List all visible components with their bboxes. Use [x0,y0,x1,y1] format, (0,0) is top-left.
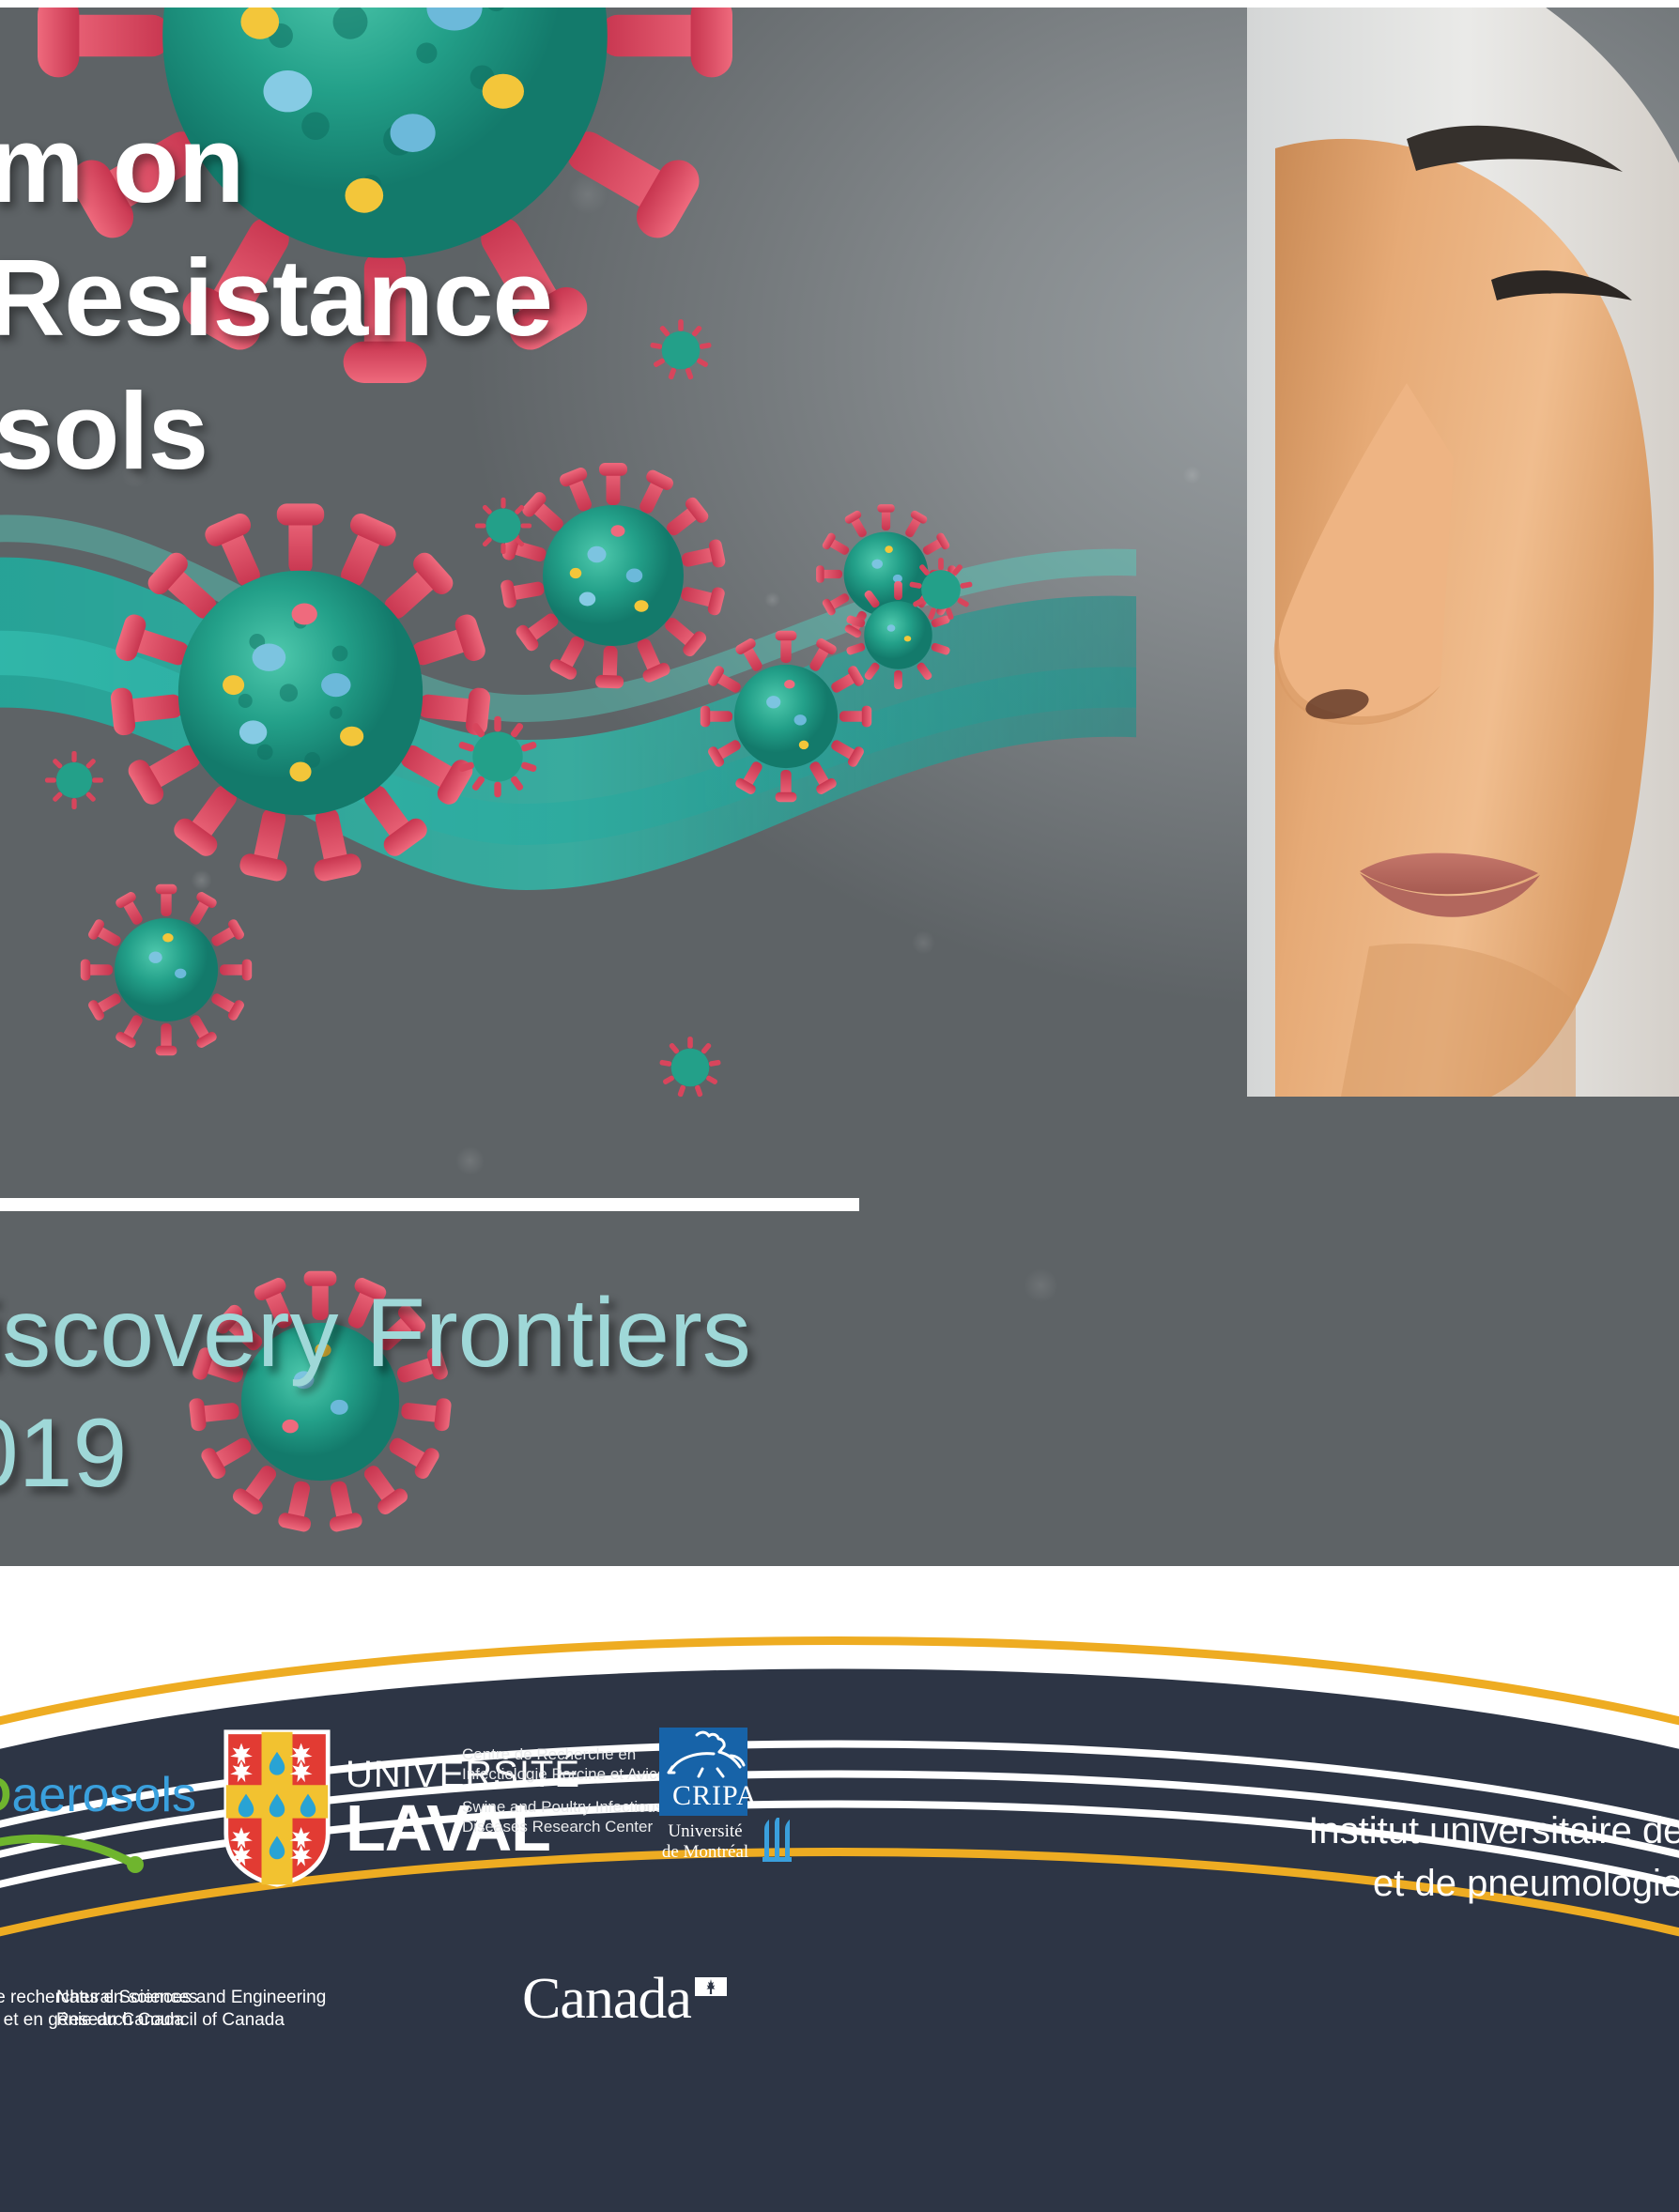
title-divider-rule [0,1198,859,1211]
canada-wordmark: Canada [522,1970,691,2028]
logo-iucpq: N Institut universitaire de cardiologie … [1087,1709,1679,1907]
poster-footer: BIOaerosols [0,1502,1679,2212]
subtitle-line-2: 2019 [0,1393,1131,1513]
bioaerosols-swoosh-icon [0,1821,207,1887]
sponsor-logo-row: BIOaerosols [0,1720,1679,1964]
logo-cripa: CRIPA Université de Montréal [648,1728,813,1863]
cripa-en-line-1: Swine and Poultry Infectious [462,1797,678,1817]
laval-crest-icon [222,1728,332,1889]
cripa-badge-square: CRIPA [659,1728,747,1816]
iucpq-name-line-2: et de pneumologie de Québec [1087,1860,1679,1907]
udem-emblem-icon [759,1818,796,1868]
canada-flag-icon [695,1977,727,1996]
iucpq-name-line-1: Institut universitaire de cardiologie [1087,1807,1679,1854]
bioaerosols-aerosols-text: aerosols [11,1768,196,1822]
poster-root: osium on otic Resistance aerosols Discov… [0,0,1679,2212]
nserc-english-name: Natural Sciences and Engineering Researc… [56,1987,326,2032]
cripa-en-line-2: Diseases Research Center [462,1817,678,1836]
cripa-description: Centre de Recherche en Infectiologie Por… [462,1744,678,1850]
title-line-3: aerosols [0,364,988,498]
cripa-fr-line-1: Centre de Recherche en [462,1744,678,1764]
udem-line-1: Université [654,1821,757,1842]
nserc-en-line-1: Natural Sciences and Engineering [56,1987,326,2009]
hero-photo: osium on otic Resistance aerosols Discov… [0,8,1679,1566]
poster-title: osium on otic Resistance aerosols [0,98,988,498]
cripa-affiliation: Université de Montréal [654,1821,757,1863]
subtitle-line-1: Discovery Frontiers [0,1273,1131,1393]
udem-line-2: de Montréal [654,1842,757,1863]
iucpq-brandmark: N [1087,1709,1679,1772]
nserc-en-line-2: Research Council of Canada [56,2009,326,2032]
poster-subtitle: Discovery Frontiers 2019 [0,1273,1131,1513]
cripa-acronym: CRIPA [672,1780,758,1812]
title-line-1: osium on [0,98,988,231]
government-logo-row: Conseil de recherches en sciences nature… [0,1964,1679,2105]
logo-bioaerosols: BIOaerosols [0,1769,225,1900]
bioaerosols-bio-text: BIO [0,1768,11,1822]
title-line-2: otic Resistance [0,231,988,364]
cripa-fr-line-2: Infectiologie Porcine et Avicole [462,1764,678,1784]
